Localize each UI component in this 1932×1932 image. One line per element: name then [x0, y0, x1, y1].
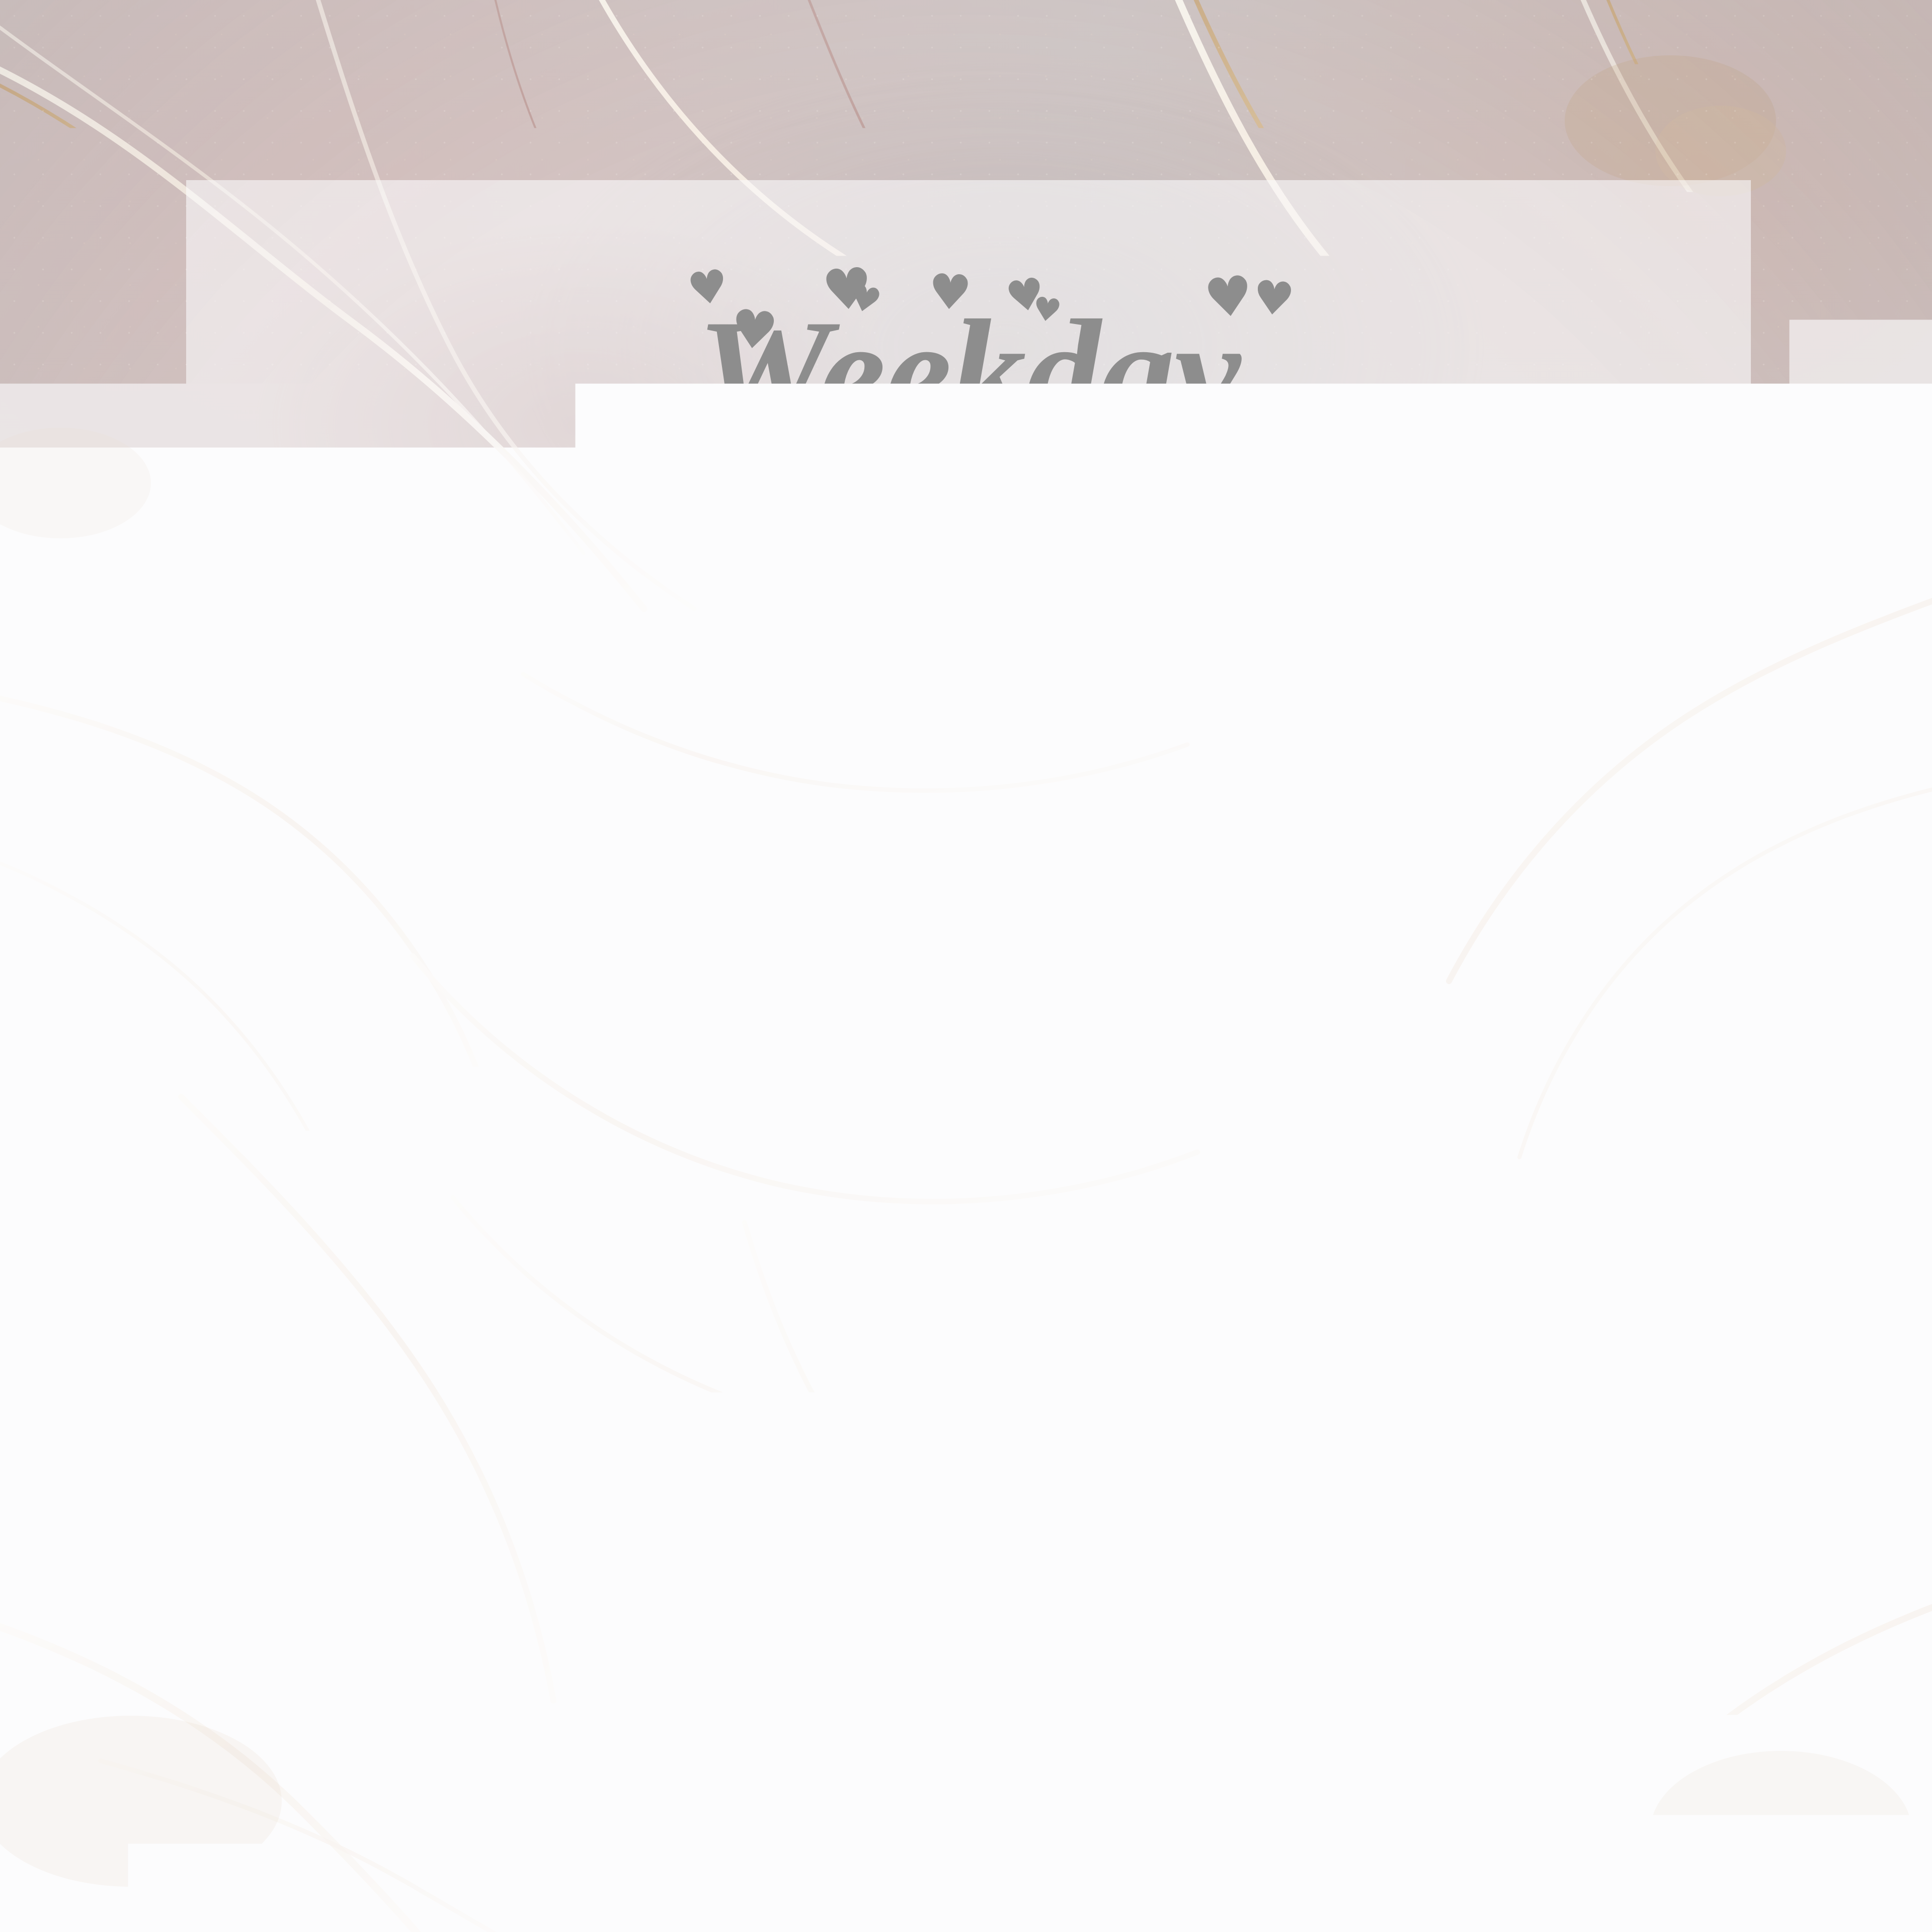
service-name: Extensions — [693, 1330, 996, 1404]
service-hours: 19:00〜 — [1023, 1330, 1245, 1404]
service-hours: 11:00〜20:00 — [937, 835, 1310, 909]
service-hours: 20:00〜 — [942, 670, 1163, 744]
service-name: Straight perm — [579, 1495, 957, 1569]
content-panel: Weekday Wcolor19:00〜color20:00〜Treatment… — [186, 180, 1751, 1746]
schedule-row: Treatment11:00〜20:00 — [627, 839, 1310, 906]
page-title: Weekday — [697, 297, 1240, 448]
service-name: Treatment — [627, 835, 909, 909]
schedule-row: color20:00〜 — [774, 674, 1163, 741]
schedule-row: Cut20:00〜 — [794, 1169, 1143, 1236]
schedule-list: Wcolor19:00〜color20:00〜Treatment11:00〜20… — [186, 509, 1751, 1566]
service-name: Cut — [794, 1165, 894, 1239]
service-hours: 11:00〜20:00 — [1038, 1000, 1411, 1074]
service-hours: 20:00〜 — [922, 1165, 1143, 1239]
schedule-row: Wcolor19:00〜 — [744, 509, 1192, 576]
service-hours: 11:00〜18:00 — [985, 1495, 1358, 1569]
service-name: Wcolor — [744, 505, 943, 579]
service-name: Treatment & SPA — [527, 1000, 1010, 1074]
schedule-row: Straight perm11:00〜18:00 — [579, 1499, 1358, 1566]
service-hours: 19:00〜 — [972, 505, 1193, 579]
weekday-hours-poster: Weekday Wcolor19:00〜color20:00〜Treatment… — [0, 0, 1932, 1932]
schedule-row: Treatment & SPA11:00〜20:00 — [527, 1004, 1411, 1071]
schedule-row: Extensions19:00〜 — [693, 1334, 1245, 1401]
service-name: color — [774, 670, 914, 744]
